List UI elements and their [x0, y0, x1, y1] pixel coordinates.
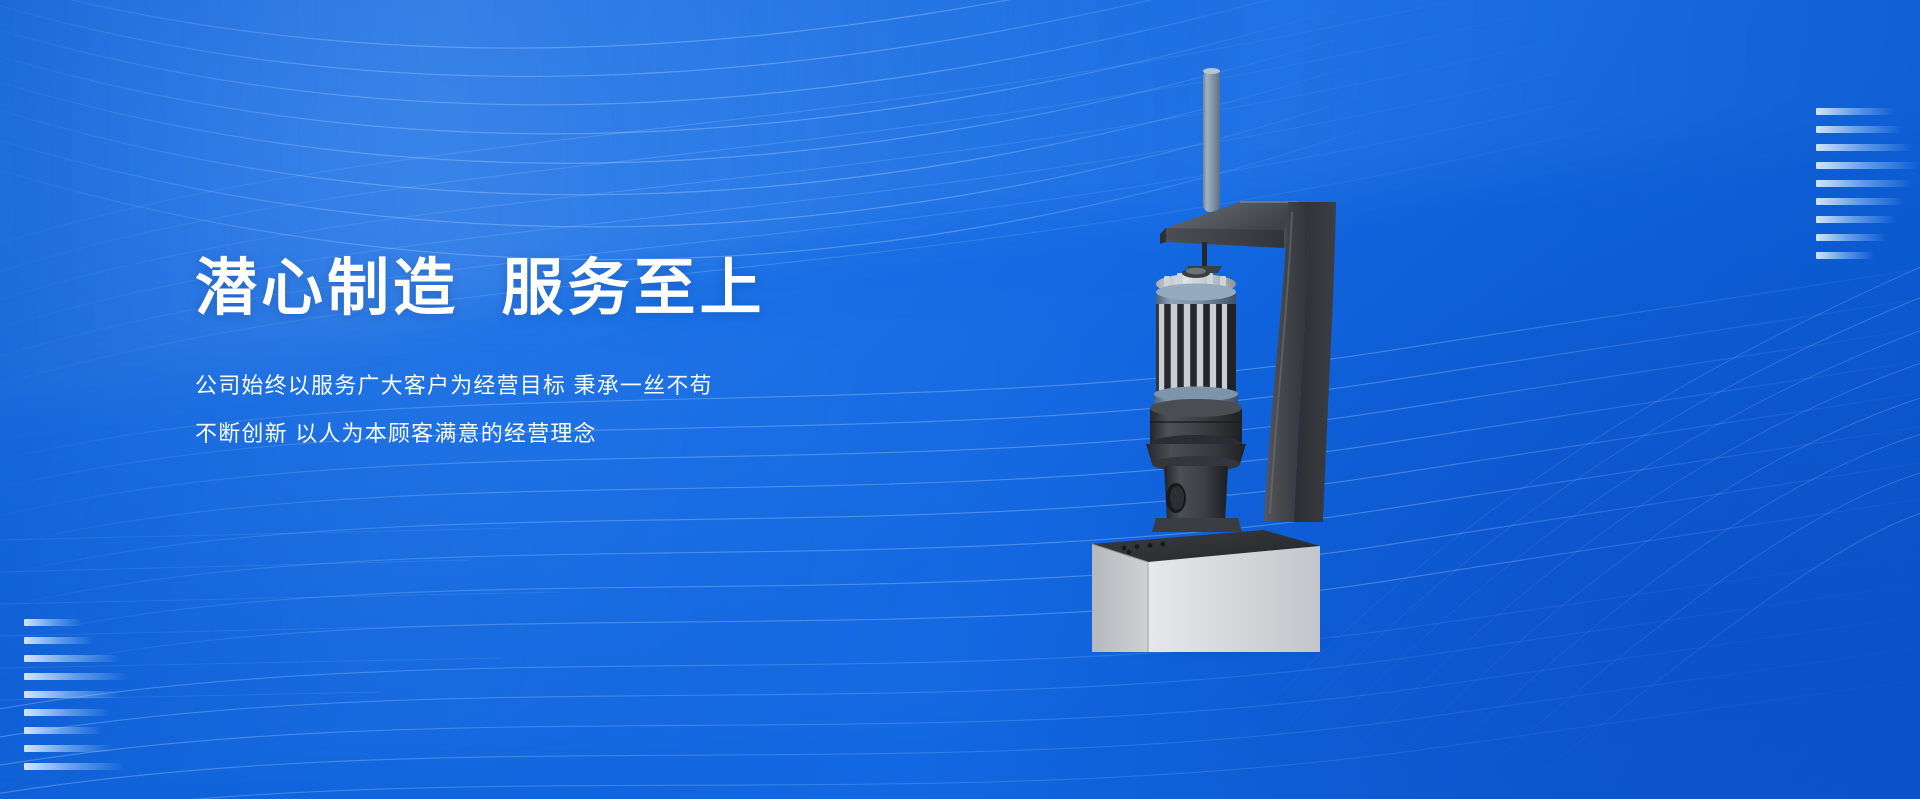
decoration-bar [24, 763, 124, 770]
vertical-guide-rod [1203, 68, 1220, 212]
decoration-bar [24, 673, 128, 680]
decoration-bar [24, 709, 110, 716]
decoration-bar [1816, 162, 1920, 169]
decoration-bar [24, 727, 102, 734]
decoration-bar [24, 691, 120, 698]
decoration-bar [1816, 180, 1912, 187]
cabinet-pedestal [1092, 530, 1320, 652]
base-flange [1146, 444, 1246, 532]
decoration-bars-bottom-left [24, 619, 128, 781]
decoration-bar [24, 637, 94, 644]
decoration-bar [24, 745, 112, 752]
decoration-bar [24, 655, 120, 662]
hero-subtitle-line-1: 公司始终以服务广大客户为经营目标 秉承一丝不苟 [195, 369, 1015, 403]
ribbed-cylinder-unit [1150, 268, 1242, 453]
curved-support-column [1264, 202, 1336, 522]
hero-subtitle: 公司始终以服务广大客户为经营目标 秉承一丝不苟 不断创新 以人为本顾客满意的经营… [195, 325, 1015, 451]
hero-headline: 潜心制造 服务至上 [195, 252, 1015, 325]
decoration-bar [1816, 108, 1894, 115]
decoration-bar [1816, 198, 1904, 205]
decoration-bar [1816, 144, 1912, 151]
hero-banner: 潜心制造 服务至上 公司始终以服务广大客户为经营目标 秉承一丝不苟 不断创新 以… [0, 0, 1920, 799]
decoration-bar [1816, 126, 1902, 133]
decoration-bar [24, 619, 82, 626]
hero-copy: 潜心制造 服务至上 公司始终以服务广大客户为经营目标 秉承一丝不苟 不断创新 以… [195, 252, 1015, 451]
decoration-bar [1816, 252, 1874, 259]
decoration-bar [1816, 216, 1896, 223]
decoration-bar [1816, 234, 1886, 241]
hero-subtitle-line-2: 不断创新 以人为本顾客满意的经营理念 [195, 417, 1015, 451]
product-image-industrial-press-machine [1088, 52, 1378, 652]
decoration-bars-right [1816, 108, 1920, 270]
